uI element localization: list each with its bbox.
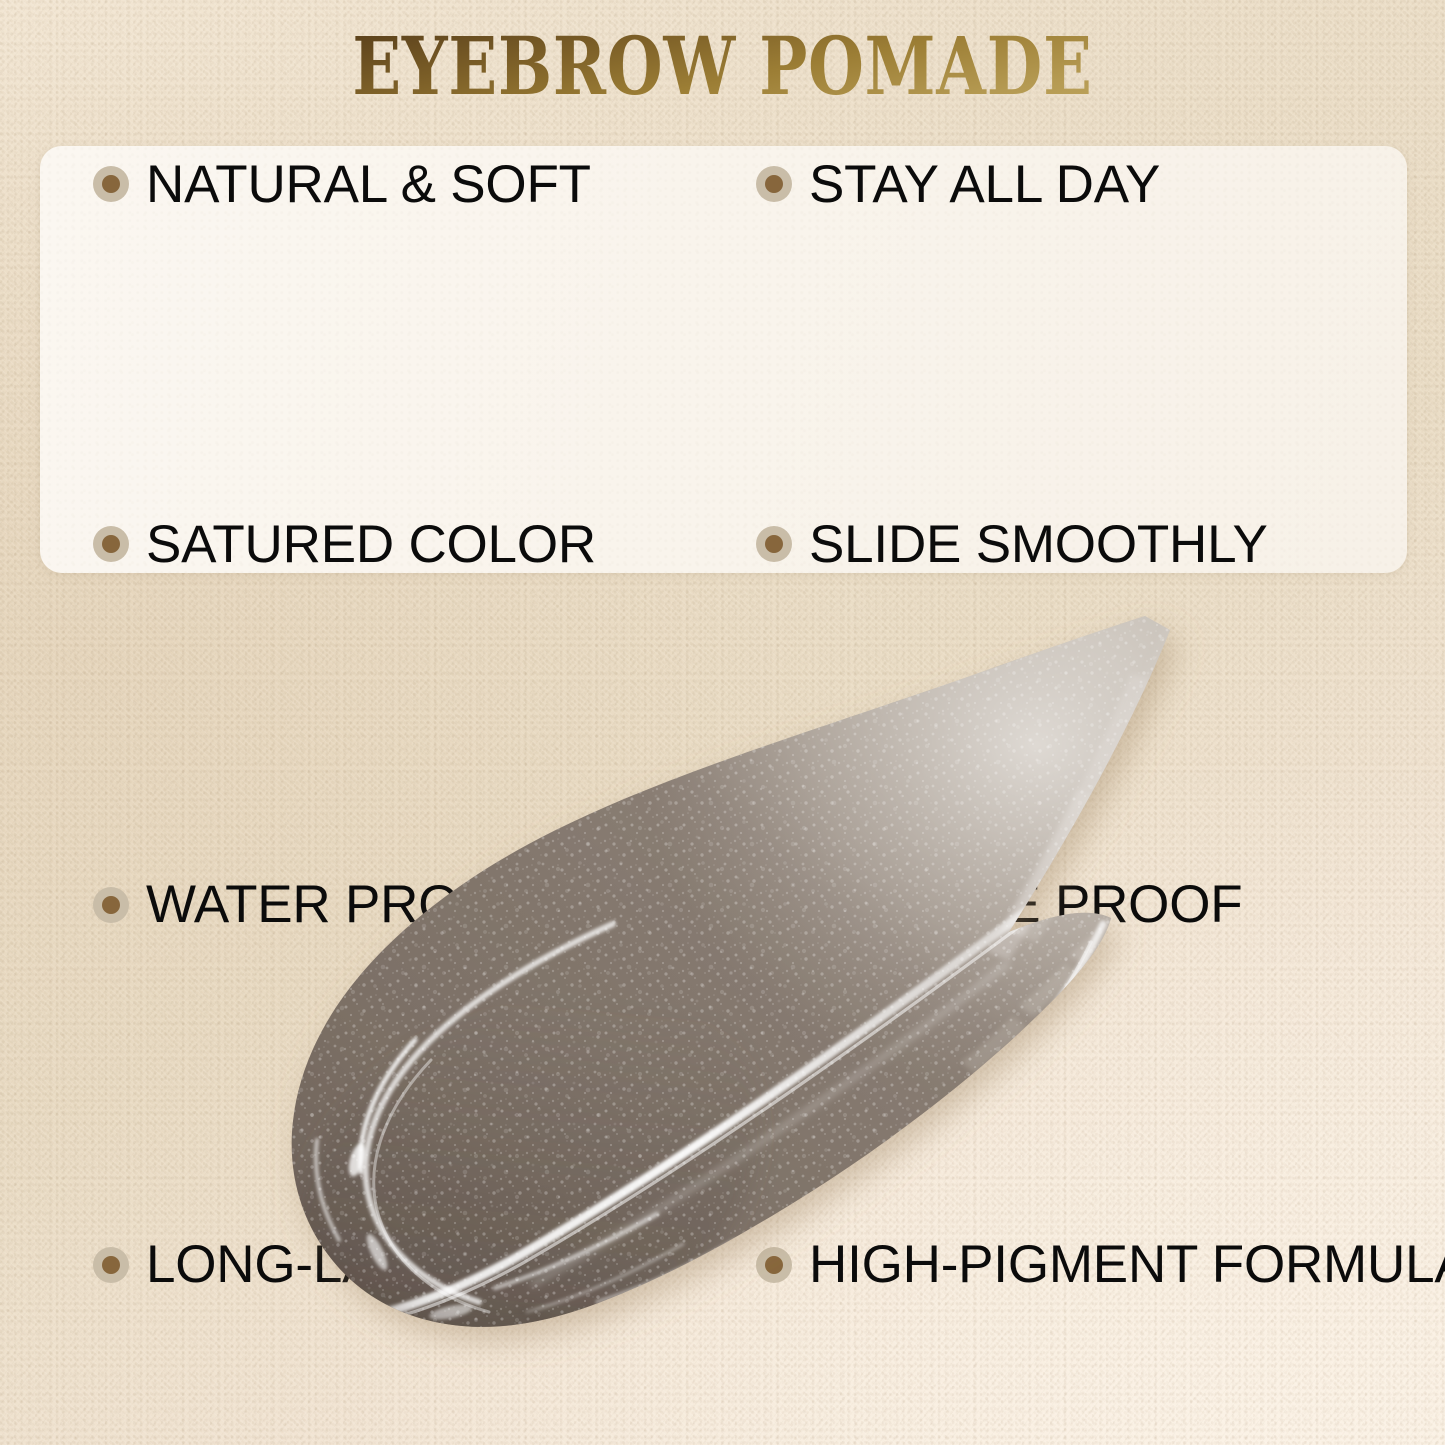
bullet-icon bbox=[756, 526, 792, 562]
pomade-smear-graphic bbox=[265, 612, 1205, 1445]
feature-label: NATURAL & SOFT bbox=[146, 158, 591, 211]
feature-label: SATURED COLOR bbox=[146, 518, 596, 571]
feature-item-slide-smoothly: SLIDE SMOOTHLY bbox=[663, 518, 1367, 571]
bullet-icon bbox=[93, 166, 129, 202]
feature-label: SLIDE SMOOTHLY bbox=[809, 518, 1268, 571]
bullet-icon bbox=[93, 1247, 129, 1283]
feature-item-natural-soft: NATURAL & SOFT bbox=[0, 158, 663, 211]
feature-item-satured-color: SATURED COLOR bbox=[0, 518, 663, 571]
product-banner: EYEBROW POMADE NATURAL & SOFT STAY ALL D… bbox=[0, 0, 1445, 1445]
bullet-icon bbox=[756, 166, 792, 202]
bullet-icon bbox=[93, 887, 129, 923]
feature-label: STAY ALL DAY bbox=[809, 158, 1160, 211]
product-swatch bbox=[265, 612, 1205, 1445]
smear-shimmer-coarse bbox=[265, 612, 1205, 1445]
feature-item-stay-all-day: STAY ALL DAY bbox=[663, 158, 1367, 211]
bullet-icon bbox=[93, 526, 129, 562]
